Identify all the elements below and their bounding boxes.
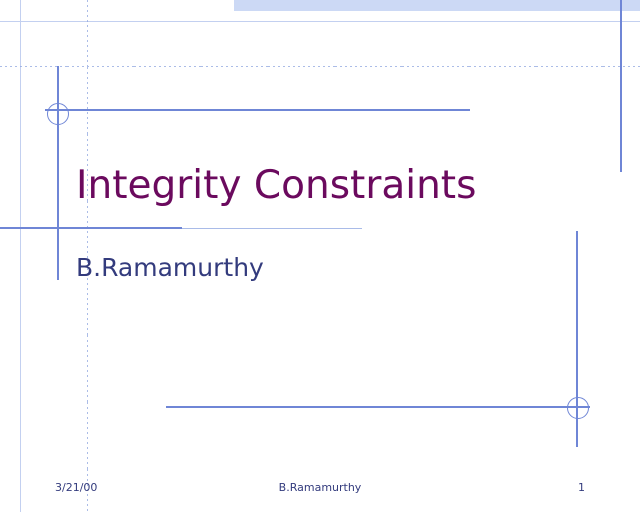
decor-vertical-line-left xyxy=(57,66,59,280)
slide-title: Integrity Constraints xyxy=(76,163,476,209)
slide-subtitle-author: B.Ramamurthy xyxy=(76,252,264,284)
decor-circle-upper-left xyxy=(47,103,69,125)
footer-author: B.Ramamurthy xyxy=(0,481,640,494)
slide-footer: 3/21/00 B.Ramamurthy 1 xyxy=(0,481,640,499)
decor-horizontal-line-upper xyxy=(45,109,470,111)
top-accent-band xyxy=(234,0,640,11)
decor-horizontal-line-title-underline-light xyxy=(182,228,362,229)
footer-page-number: 1 xyxy=(578,481,585,494)
decor-horizontal-line-lower xyxy=(166,406,590,408)
decor-horizontal-line-title-underline xyxy=(0,227,182,229)
slide-canvas: Integrity Constraints B.Ramamurthy 3/21/… xyxy=(0,0,640,512)
decor-circle-lower-right xyxy=(567,397,589,419)
decor-vertical-line-top-right xyxy=(620,0,622,172)
